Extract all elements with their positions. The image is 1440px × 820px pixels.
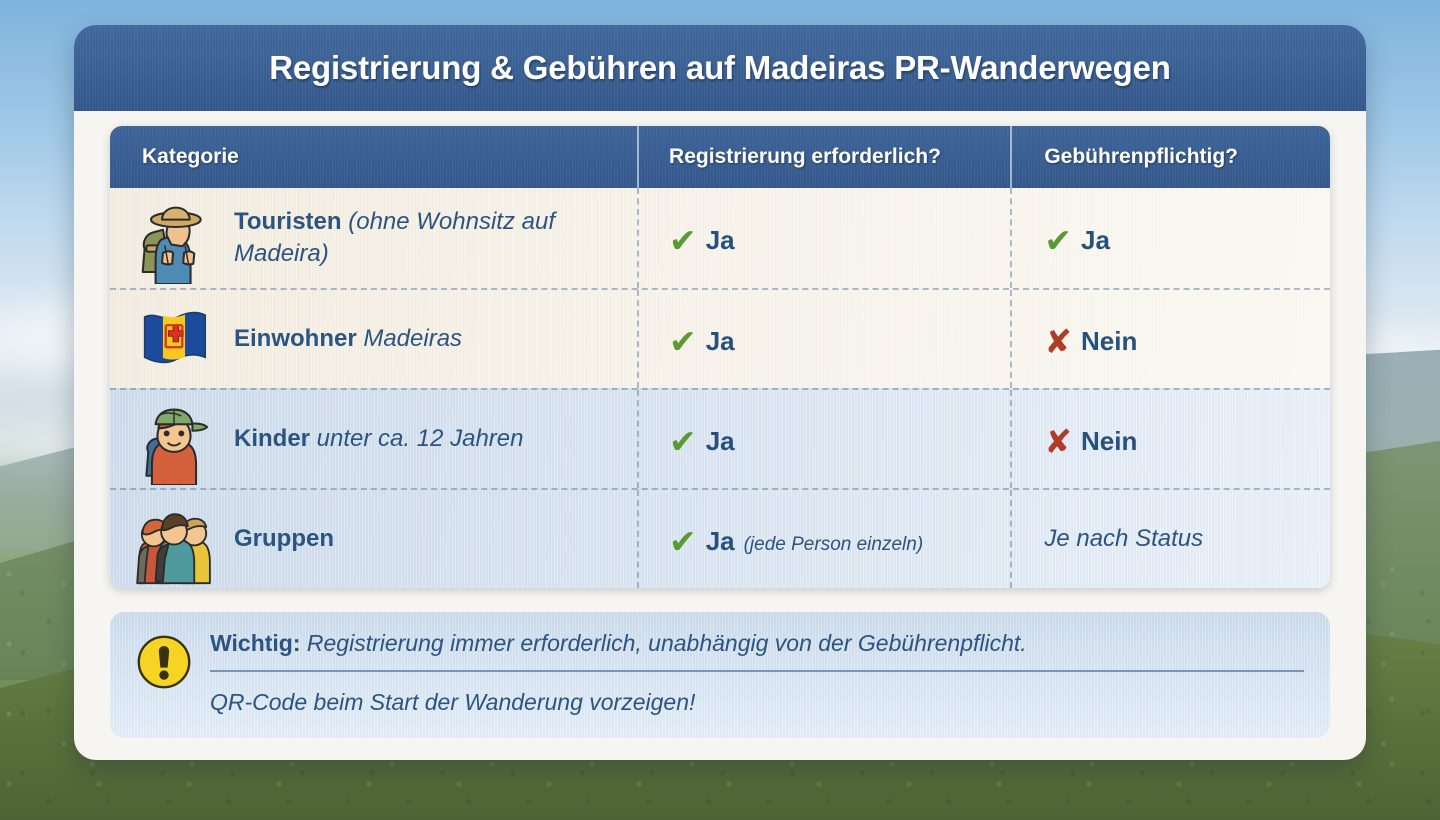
note-label-wichtig: Wichtig: xyxy=(210,630,301,656)
category-label: Einwohner Madeiras xyxy=(234,323,462,355)
category-label-strong: Gruppen xyxy=(234,525,334,552)
check-icon: ✔ xyxy=(669,224,697,257)
table-row: Einwohner Madeiras ✔ Ja ✘ Nein xyxy=(110,288,1330,388)
category-label-strong: Touristen xyxy=(234,208,342,235)
registration-answer: Ja xyxy=(706,426,735,457)
child-with-cap-icon xyxy=(126,393,222,485)
fee-cell: Je nach Status xyxy=(1010,490,1330,588)
table-row: Touristen (ohne Wohnsitz auf Madeira) ✔ … xyxy=(110,188,1330,288)
fee-cell: ✘ Nein xyxy=(1010,290,1330,388)
registration-answer: Ja xyxy=(706,526,735,557)
note-body: Wichtig: Registrierung immer erforderlic… xyxy=(210,630,1304,716)
registration-answer-note: (jede Person einzeln) xyxy=(744,534,924,556)
registration-cell: ✔ Ja (jede Person einzeln) xyxy=(637,490,1010,588)
category-label-strong: Einwohner xyxy=(234,325,357,352)
registration-cell: ✔ Ja xyxy=(637,290,1010,388)
registration-cell: ✔ Ja xyxy=(637,390,1010,488)
fee-answer: Je nach Status xyxy=(1044,525,1203,553)
fee-cell: ✘ Nein xyxy=(1010,390,1330,488)
category-label-light: unter ca. 12 Jahren xyxy=(310,425,523,452)
comparison-table: Kategorie Registrierung erforderlich? Ge… xyxy=(110,126,1330,588)
category-label-light: Madeiras xyxy=(357,325,462,352)
table-row: Kinder unter ca. 12 Jahren ✔ Ja ✘ Nein xyxy=(110,388,1330,488)
cross-icon: ✘ xyxy=(1044,325,1072,358)
page-title: Registrierung & Gebühren auf Madeiras PR… xyxy=(269,49,1171,87)
group-of-hikers-icon xyxy=(126,493,222,585)
category-label: Kinder unter ca. 12 Jahren xyxy=(234,423,523,455)
hiker-with-hat-icon xyxy=(126,192,222,284)
category-cell: Gruppen xyxy=(110,490,637,588)
check-icon: ✔ xyxy=(669,425,697,458)
registration-cell: ✔ Ja xyxy=(637,188,1010,288)
note-line-primary: Wichtig: Registrierung immer erforderlic… xyxy=(210,630,1304,672)
column-header-kategorie: Kategorie xyxy=(110,126,637,188)
category-cell: Kinder unter ca. 12 Jahren xyxy=(110,390,637,488)
fee-answer: Ja xyxy=(1081,225,1110,256)
note-line-secondary: QR-Code beim Start der Wanderung vorzeig… xyxy=(210,672,1304,716)
madeira-flag-icon xyxy=(126,293,222,385)
fee-answer: Nein xyxy=(1081,426,1137,457)
check-icon: ✔ xyxy=(1044,224,1072,257)
registration-answer: Ja xyxy=(706,225,735,256)
registration-answer: Ja xyxy=(706,326,735,357)
category-cell: Touristen (ohne Wohnsitz auf Madeira) xyxy=(110,188,637,288)
warning-exclamation-icon xyxy=(136,634,192,690)
column-header-registrierung: Registrierung erforderlich? xyxy=(637,126,1010,188)
category-label: Gruppen xyxy=(234,523,334,555)
column-header-gebuehren: Gebührenpflichtig? xyxy=(1010,126,1330,188)
fee-answer: Nein xyxy=(1081,326,1137,357)
note-line-primary-text: Registrierung immer erforderlich, unabhä… xyxy=(301,630,1027,656)
table-row: Gruppen ✔ Ja (jede Person einzeln) Je na… xyxy=(110,488,1330,588)
important-note: Wichtig: Registrierung immer erforderlic… xyxy=(110,612,1330,738)
table-header-row: Kategorie Registrierung erforderlich? Ge… xyxy=(110,126,1330,188)
check-icon: ✔ xyxy=(669,325,697,358)
cross-icon: ✘ xyxy=(1044,425,1072,458)
card-title-bar: Registrierung & Gebühren auf Madeiras PR… xyxy=(74,25,1366,111)
category-cell: Einwohner Madeiras xyxy=(110,290,637,388)
category-label-strong: Kinder xyxy=(234,425,310,452)
fee-cell: ✔ Ja xyxy=(1010,188,1330,288)
info-card: Registrierung & Gebühren auf Madeiras PR… xyxy=(74,25,1366,760)
category-label: Touristen (ohne Wohnsitz auf Madeira) xyxy=(234,206,637,269)
check-icon: ✔ xyxy=(669,525,697,558)
